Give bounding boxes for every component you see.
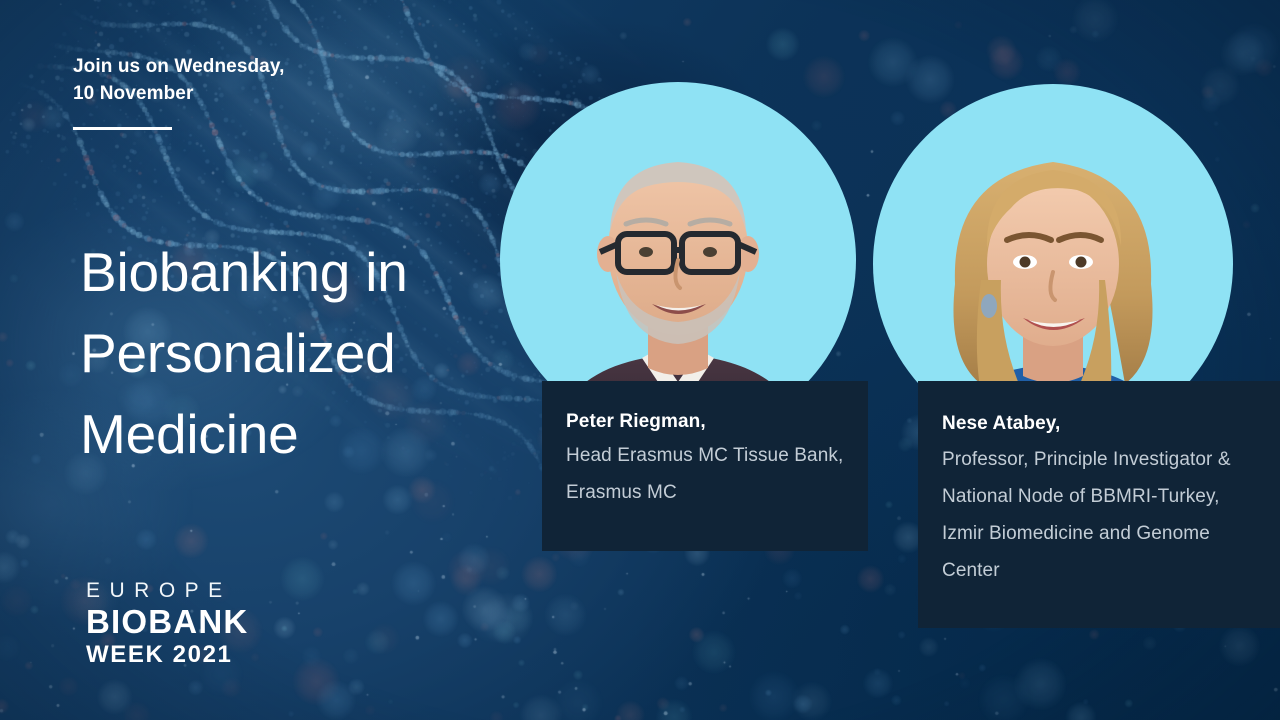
event-date-line-1: Join us on Wednesday, — [73, 53, 373, 80]
slide-canvas: Join us on Wednesday, 10 November Bioban… — [0, 0, 1280, 720]
logo-line-week: WEEK 2021 — [86, 640, 248, 670]
divider-rule — [73, 127, 172, 130]
event-date-line-2: 10 November — [73, 80, 373, 107]
speaker-role-2: Professor, Principle Investigator & Nati… — [942, 441, 1256, 589]
page-title: Biobanking in Personalized Medicine — [80, 232, 510, 475]
speaker-name-1: Peter Riegman, — [566, 407, 844, 437]
speaker-caption-2: Nese Atabey, Professor, Principle Invest… — [918, 381, 1280, 628]
speaker-caption-1: Peter Riegman, Head Erasmus MC Tissue Ba… — [542, 381, 868, 551]
event-date-block: Join us on Wednesday, 10 November — [73, 53, 373, 107]
speaker-role-1: Head Erasmus MC Tissue Bank, Erasmus MC — [566, 437, 844, 511]
logo-line-biobank: BIOBANK — [86, 604, 248, 640]
event-logo: EUROPE BIOBANK WEEK 2021 — [86, 578, 248, 670]
logo-line-europe: EUROPE — [86, 578, 248, 604]
speaker-name-2: Nese Atabey, — [942, 407, 1256, 441]
